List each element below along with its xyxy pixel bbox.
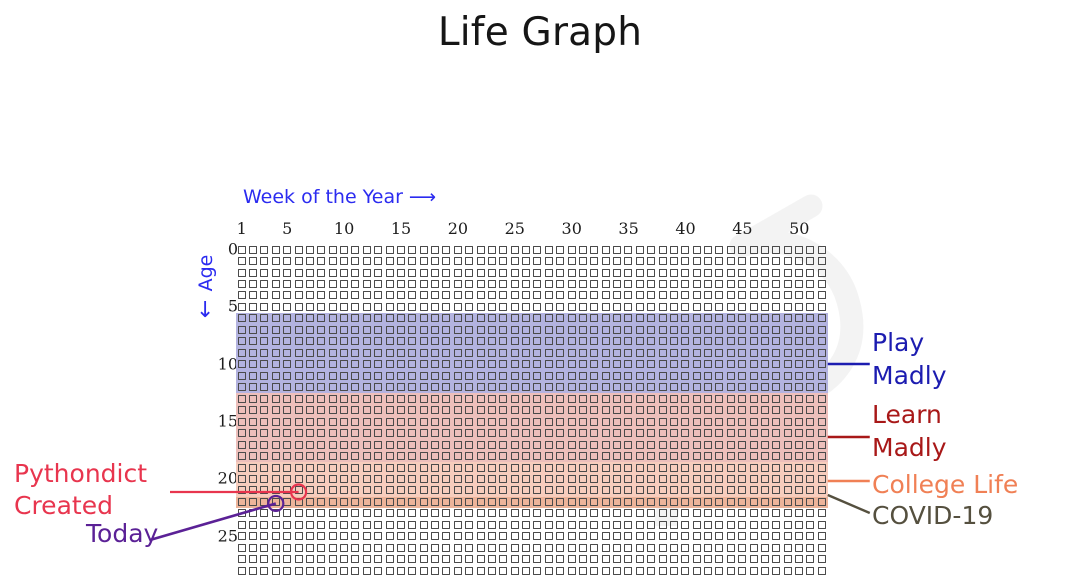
week-cell [556,567,564,575]
week-cell [454,257,462,265]
week-cell [317,464,325,472]
week-cell [329,532,337,540]
week-cell [306,360,314,368]
week-cell [750,349,758,357]
week-cell [363,395,371,403]
week-cell [636,509,644,517]
week-cell [272,555,280,563]
week-cell [340,567,348,575]
week-cell [306,280,314,288]
week-cell [522,269,530,277]
week-cell [363,464,371,472]
week-cell [374,337,382,345]
week-cell [772,303,780,311]
week-cell [408,291,416,299]
week-cell [260,291,268,299]
legend-item-learn[interactable]: Learn Madly [872,398,947,464]
week-cell [647,246,655,254]
week-cell [386,567,394,575]
week-cell [374,509,382,517]
x-tick-10: 10 [334,219,354,238]
week-cell [533,418,541,426]
week-cell [488,269,496,277]
week-cell [784,544,792,552]
week-cell [602,418,610,426]
week-cell [522,406,530,414]
week-cell [351,498,359,506]
week-cell [750,303,758,311]
week-cell [693,303,701,311]
week-cell [306,544,314,552]
week-cell [351,509,359,517]
week-cell [568,395,576,403]
week-cell [522,314,530,322]
week-cell [363,303,371,311]
week-cell [545,498,553,506]
week-cell [545,291,553,299]
week-cell [636,326,644,334]
week-cell [545,555,553,563]
week-cell [784,383,792,391]
y-axis-ticks: 0510152025 [196,230,238,550]
week-cell [306,395,314,403]
week-cell [795,498,803,506]
week-cell [329,429,337,437]
week-cell [374,303,382,311]
week-cell [499,509,507,517]
week-cell [681,555,689,563]
week-cell [670,257,678,265]
week-cell [465,383,473,391]
week-cell [545,418,553,426]
week-cell [602,406,610,414]
week-cell [795,303,803,311]
week-cell [317,372,325,380]
week-cell [477,452,485,460]
week-cell [408,544,416,552]
week-cell [511,349,519,357]
week-cell [420,395,428,403]
week-cell [568,567,576,575]
week-cell [602,532,610,540]
week-cell [283,521,291,529]
week-cell [249,498,257,506]
week-cell [397,486,405,494]
week-cell [556,509,564,517]
legend-play-line2: Madly [872,359,947,392]
week-cell [545,521,553,529]
week-cell [784,360,792,368]
week-cell [818,441,826,449]
week-cell [806,486,814,494]
week-cell [659,555,667,563]
week-cell [795,257,803,265]
week-cell [693,291,701,299]
week-cell [772,429,780,437]
week-cell [556,441,564,449]
week-cell [408,475,416,483]
week-cell [772,532,780,540]
week-cell [499,544,507,552]
week-cell [363,257,371,265]
week-cell [454,291,462,299]
week-cell [329,509,337,517]
week-cell [818,303,826,311]
week-cell [533,464,541,472]
week-cell [624,498,632,506]
week-cell [727,372,735,380]
week-cell [715,269,723,277]
week-cell [295,406,303,414]
week-cell [659,498,667,506]
week-cell [238,509,246,517]
week-cell [772,418,780,426]
week-cell [579,555,587,563]
week-cell [442,406,450,414]
week-cell [329,498,337,506]
week-cell [522,498,530,506]
week-cell [545,383,553,391]
week-cell [363,509,371,517]
week-cell [431,383,439,391]
week-cell [488,395,496,403]
week-cell [806,555,814,563]
week-cell [602,360,610,368]
week-cell [670,464,678,472]
week-cell [317,567,325,575]
week-cell [397,441,405,449]
week-cell [772,383,780,391]
week-cell [317,337,325,345]
week-cell [738,406,746,414]
week-cell [397,464,405,472]
week-cell [340,544,348,552]
week-cell [647,269,655,277]
week-cell [795,544,803,552]
week-cell [374,372,382,380]
week-cell [738,257,746,265]
week-cell [454,544,462,552]
week-cell [818,337,826,345]
legend-item-college[interactable]: College Life [872,468,1018,501]
week-cell [738,291,746,299]
week-cell [283,464,291,472]
week-cell [465,555,473,563]
week-cell [340,372,348,380]
week-cell [659,337,667,345]
week-cell [772,452,780,460]
week-cell [386,406,394,414]
week-cell [636,567,644,575]
week-cell [499,486,507,494]
week-cell [647,349,655,357]
week-cell [624,314,632,322]
week-cell [363,326,371,334]
week-cell [750,269,758,277]
week-cell [329,486,337,494]
week-cell [613,372,621,380]
week-cell [374,452,382,460]
week-cell [465,532,473,540]
week-cell [784,567,792,575]
week-cell [340,349,348,357]
week-cell [590,509,598,517]
week-cell [750,544,758,552]
week-cell [249,567,257,575]
week-cell [818,314,826,322]
week-cell [693,246,701,254]
week-cell [670,555,678,563]
week-cell [260,303,268,311]
week-cell [715,441,723,449]
week-cell [249,383,257,391]
week-cell [499,567,507,575]
x-tick-40: 40 [675,219,695,238]
week-cell [454,498,462,506]
week-cell [613,441,621,449]
week-cell [772,395,780,403]
week-cell [727,337,735,345]
week-cell [772,544,780,552]
week-cell [329,326,337,334]
week-cell [488,475,496,483]
legend-leader-covid [828,495,870,513]
week-cell [329,291,337,299]
week-cell [636,418,644,426]
week-cell [681,337,689,345]
week-cell [408,406,416,414]
legend-item-covid[interactable]: COVID-19 [872,499,993,532]
week-cell [602,280,610,288]
week-cell [704,509,712,517]
week-cell [647,291,655,299]
week-cell [238,326,246,334]
week-cell [533,326,541,334]
week-cell [772,498,780,506]
week-cell [659,406,667,414]
week-cell [602,326,610,334]
week-cell [249,464,257,472]
week-cell [340,383,348,391]
week-cell [386,280,394,288]
week-cell [795,429,803,437]
week-cell [249,372,257,380]
week-cell [363,441,371,449]
week-cell [613,429,621,437]
week-cell-grid [236,244,828,575]
week-cell [738,349,746,357]
week-cell [613,303,621,311]
week-cell [374,326,382,334]
x-tick-15: 15 [391,219,411,238]
week-cell [556,326,564,334]
week-cell [454,567,462,575]
week-cell [295,567,303,575]
week-cell [511,406,519,414]
week-cell [590,314,598,322]
week-cell [465,429,473,437]
week-cell [306,464,314,472]
week-cell [624,303,632,311]
week-cell [329,406,337,414]
week-cell [420,567,428,575]
week-cell [647,441,655,449]
week-cell [590,486,598,494]
week-cell [681,486,689,494]
week-cell [283,257,291,265]
week-cell [363,532,371,540]
week-cell [613,486,621,494]
week-cell [329,395,337,403]
week-cell [260,383,268,391]
week-cell [704,303,712,311]
week-cell [761,372,769,380]
week-cell [442,567,450,575]
week-cell [636,337,644,345]
week-cell [715,452,723,460]
week-cell [636,464,644,472]
week-cell [397,360,405,368]
week-cell [386,452,394,460]
week-cell [568,291,576,299]
week-cell [340,532,348,540]
week-cell [408,303,416,311]
week-cell [727,498,735,506]
week-cell [613,395,621,403]
week-cell [693,257,701,265]
week-cell [295,544,303,552]
week-cell [636,360,644,368]
week-cell [397,314,405,322]
week-cell [408,509,416,517]
week-cell [806,291,814,299]
week-cell [249,395,257,403]
week-cell [511,337,519,345]
week-cell [568,521,576,529]
week-cell [499,280,507,288]
week-cell [784,257,792,265]
week-cell [249,532,257,540]
week-cell [568,509,576,517]
week-cell [784,418,792,426]
week-cell [818,395,826,403]
week-cell [624,555,632,563]
week-cell [590,269,598,277]
week-cell [602,395,610,403]
week-cell [431,464,439,472]
week-cell [295,532,303,540]
week-cell [317,314,325,322]
week-cell [374,246,382,254]
week-cell [693,567,701,575]
week-cell [386,349,394,357]
week-cell [727,314,735,322]
week-cell [784,475,792,483]
week-cell [454,269,462,277]
week-cell [636,269,644,277]
week-cell [408,452,416,460]
week-cell [488,509,496,517]
week-cell [750,464,758,472]
week-cell [704,326,712,334]
week-cell [465,360,473,368]
week-cell [420,360,428,368]
week-cell [499,555,507,563]
week-cell [704,360,712,368]
week-cell [511,383,519,391]
week-cell [624,567,632,575]
week-cell [681,475,689,483]
week-cell [465,349,473,357]
week-cell [260,544,268,552]
week-cell [533,567,541,575]
week-cell [772,280,780,288]
annotation-today[interactable]: Today [86,518,158,550]
week-cell [238,337,246,345]
week-cell [750,246,758,254]
week-cell [522,567,530,575]
week-cell [659,291,667,299]
week-cell [579,452,587,460]
week-cell [374,383,382,391]
week-cell [238,360,246,368]
week-cell [738,314,746,322]
week-cell [295,349,303,357]
week-cell [260,509,268,517]
week-cell [590,372,598,380]
week-cell [397,349,405,357]
week-cell [272,418,280,426]
week-cell [386,326,394,334]
week-cell [704,475,712,483]
week-cell [431,521,439,529]
week-cell [363,246,371,254]
week-cell [351,257,359,265]
week-cell [681,326,689,334]
week-cell [772,360,780,368]
week-cell [636,498,644,506]
legend-item-play[interactable]: Play Madly [872,326,947,392]
week-cell [238,498,246,506]
week-cell [681,257,689,265]
week-cell [579,291,587,299]
week-cell [590,441,598,449]
week-cell [818,475,826,483]
week-cell [647,418,655,426]
week-cell [772,441,780,449]
week-cell [488,303,496,311]
week-cell [568,372,576,380]
week-cell [795,314,803,322]
annotation-pythondict-created[interactable]: Pythondict Created [14,458,147,522]
week-cell [317,441,325,449]
week-cell [533,521,541,529]
week-cell [272,475,280,483]
week-cell [329,246,337,254]
week-cell [784,555,792,563]
x-tick-25: 25 [505,219,525,238]
week-cell [568,269,576,277]
week-cell [340,314,348,322]
week-cell [329,544,337,552]
week-cell [738,544,746,552]
week-cell [488,372,496,380]
week-cell [260,475,268,483]
week-cell [363,372,371,380]
week-cell [704,452,712,460]
week-cell [795,269,803,277]
week-cell [533,395,541,403]
